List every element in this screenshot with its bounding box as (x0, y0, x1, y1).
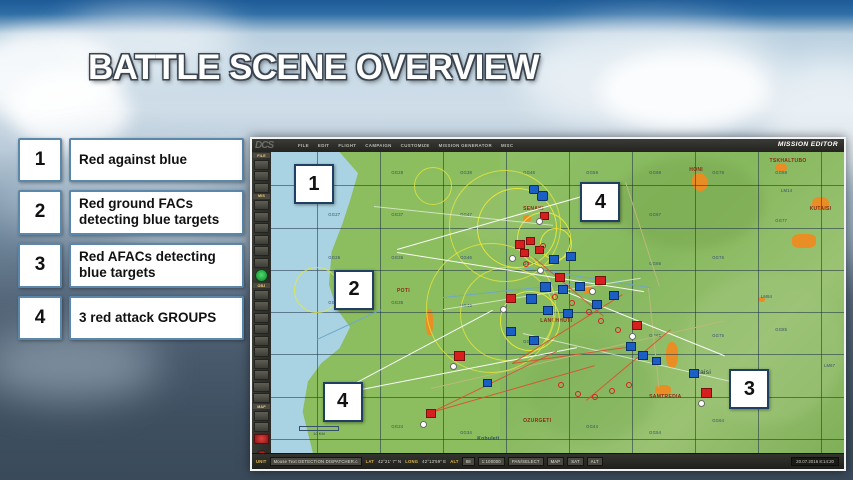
legend-label: Red AFACs detecting blue targets (69, 243, 244, 288)
legend-number: 1 (18, 138, 62, 182)
blue-unit[interactable] (558, 285, 568, 294)
target-marker[interactable] (523, 261, 529, 267)
grid-label: GG28 (391, 170, 403, 175)
status-timestamp: 20.07.2016 8:14:20 (791, 457, 839, 466)
callout-2: 2 (334, 270, 374, 310)
dcs-logo: DCS (255, 140, 289, 151)
menu-item-campaign[interactable]: CAMPAIGN (365, 143, 391, 148)
scale-bar-line (299, 426, 339, 431)
layer-button-map[interactable]: MAP (547, 457, 565, 466)
grid-label: GG67 (649, 212, 661, 217)
red-unit[interactable] (515, 240, 525, 249)
layer-button-sat[interactable]: SAT (567, 457, 583, 466)
sidebar-button-weather[interactable] (254, 212, 269, 222)
status-long-label: LONG (405, 459, 418, 464)
sidebar-button-delete[interactable] (254, 434, 269, 444)
target-marker[interactable] (575, 391, 581, 397)
map-gridline (380, 152, 381, 454)
red-unit[interactable] (701, 388, 712, 398)
blue-unit[interactable] (638, 351, 648, 360)
sidebar-button-goals[interactable] (254, 258, 269, 268)
sidebar-group-file: FILE (253, 153, 270, 158)
grid-label: GG75 (712, 333, 724, 338)
grid-label: GG68 (649, 170, 661, 175)
grid-label: GG88 (775, 170, 787, 175)
range-ring (294, 267, 340, 313)
blue-unit[interactable] (506, 327, 516, 336)
menu-item-flight[interactable]: FLIGHT (338, 143, 356, 148)
waypoint-dot[interactable] (589, 288, 596, 295)
menu-item-customize[interactable]: CUSTOMIZE (401, 143, 430, 148)
blue-unit[interactable] (592, 300, 602, 309)
legend-number: 2 (18, 190, 62, 235)
menu-item-mission-generator[interactable]: MISSION GENERATOR (439, 143, 492, 148)
sidebar-button-template[interactable] (254, 370, 269, 380)
grid-label: GG26 (328, 255, 340, 260)
blue-unit[interactable] (563, 309, 573, 318)
sidebar-group-objects: OBJ (253, 283, 270, 288)
grid-label: GG77 (775, 218, 787, 223)
blue-unit[interactable] (609, 291, 619, 300)
target-marker[interactable] (592, 394, 598, 400)
waypoint-dot[interactable] (698, 400, 705, 407)
sidebar-button-new[interactable] (254, 160, 269, 170)
red-unit[interactable] (526, 237, 535, 245)
blue-unit[interactable] (529, 185, 539, 194)
blue-unit[interactable] (529, 336, 539, 345)
red-unit[interactable] (426, 409, 436, 418)
list-item: 1 Red against blue (18, 138, 244, 182)
menu-item-misc[interactable]: MISC (501, 143, 513, 148)
menu-bar: DCS FILE EDIT FLIGHT CAMPAIGN CUSTOMIZE … (252, 139, 844, 152)
red-unit[interactable] (555, 273, 565, 282)
red-unit[interactable] (506, 294, 516, 303)
city-label: OZURGETI (523, 418, 551, 424)
grid-label: GG78 (712, 170, 724, 175)
window-label: MISSION EDITOR (778, 141, 838, 148)
sidebar-group-mission: MIS (253, 194, 270, 199)
sidebar-button-triggers[interactable] (254, 246, 269, 256)
city-label: HONI (689, 167, 703, 173)
grid-label: GG58 (586, 170, 598, 175)
grid-label: LM67 (824, 363, 835, 368)
legend-label: Red against blue (69, 138, 244, 182)
grid-label: GG27 (328, 212, 340, 217)
map-canvas[interactable]: GG28 GG38 GG48 GG58 GG68 GG78 GG88 GG27 … (271, 152, 844, 454)
map-gridline (695, 152, 696, 454)
grid-label: GG24 (391, 424, 403, 429)
target-marker[interactable] (609, 388, 615, 394)
blue-unit[interactable] (575, 282, 585, 291)
blue-unit[interactable] (543, 306, 553, 315)
red-unit[interactable] (454, 351, 465, 361)
grid-label: GG76 (712, 255, 724, 260)
map-scale-bar: 10 KM (299, 426, 339, 437)
sidebar-group-map: MAP (253, 404, 270, 409)
target-marker[interactable] (626, 382, 632, 388)
grid-label: GG64 (712, 418, 724, 423)
callout-1: 1 (294, 164, 334, 204)
page-title: BATTLE SCENE OVERVIEW (88, 48, 539, 88)
mission-editor-window: DCS FILE EDIT FLIGHT CAMPAIGN CUSTOMIZE … (250, 137, 846, 471)
grid-label: GG54 (649, 430, 661, 435)
sidebar-button-open[interactable] (254, 171, 269, 181)
target-marker[interactable] (540, 243, 546, 249)
city-label: Kobuleti (477, 436, 499, 442)
list-item: 4 3 red attack GROUPS (18, 296, 244, 340)
scale-bar-label: 10 KM (299, 431, 339, 436)
waypoint-dot[interactable] (420, 421, 427, 428)
blue-unit[interactable] (566, 252, 576, 261)
grid-label: GG37 (391, 212, 403, 217)
grid-label: GG85 (775, 327, 787, 332)
map-gridline (821, 152, 822, 454)
urban-area (792, 234, 816, 248)
grid-label: GG34 (460, 430, 472, 435)
list-item: 2 Red ground FACs detecting blue targets (18, 190, 244, 235)
grid-label: GG38 (460, 170, 472, 175)
status-unit-value: Mouse Text DETECTION DISPATCHER.c (270, 457, 362, 466)
blue-unit[interactable] (626, 342, 636, 351)
city-label: SAMTREDIA (649, 394, 681, 400)
sidebar-button-briefing[interactable] (254, 235, 269, 245)
status-mode-value[interactable]: PAN/SELECT (508, 457, 544, 466)
grid-label: LM84 (761, 294, 772, 299)
sidebar-button-cargo[interactable] (254, 359, 269, 369)
grid-label: GG35 (391, 300, 403, 305)
legend-number: 3 (18, 243, 62, 288)
blue-unit[interactable] (652, 357, 661, 365)
red-unit[interactable] (595, 276, 606, 285)
callout-4-top: 4 (580, 182, 620, 222)
target-marker[interactable] (558, 382, 564, 388)
blue-unit[interactable] (537, 191, 548, 201)
sidebar-button-aircraft[interactable] (254, 290, 269, 300)
blue-unit[interactable] (549, 255, 559, 264)
target-marker[interactable] (615, 327, 621, 333)
sidebar-button-vehicle[interactable] (254, 324, 269, 334)
status-lat-value: 42°21' 7" N (378, 459, 401, 464)
layer-button-alt[interactable]: ALT (587, 457, 603, 466)
target-marker[interactable] (552, 294, 558, 300)
city-label: KUTAISI (810, 206, 832, 212)
menu-item-file[interactable]: FILE (298, 143, 309, 148)
list-item: 3 Red AFACs detecting blue targets (18, 243, 244, 288)
status-bar: UNIT Mouse Text DETECTION DISPATCHER.c L… (252, 453, 844, 469)
blue-unit[interactable] (526, 294, 537, 304)
callout-4-bottom: 4 (323, 382, 363, 422)
sidebar-button-zoom[interactable] (254, 411, 269, 421)
sidebar-button-static[interactable] (254, 336, 269, 346)
status-alt-value: 88 (462, 457, 475, 466)
menu-item-edit[interactable]: EDIT (318, 143, 329, 148)
legend-label: 3 red attack GROUPS (69, 296, 244, 340)
sidebar-button-helicopter[interactable] (254, 301, 269, 311)
grid-label: GG44 (586, 424, 598, 429)
sidebar-button-coalition[interactable] (253, 382, 270, 392)
status-scale-value[interactable]: 1:100000 (478, 457, 505, 466)
grid-label: GG36 (391, 255, 403, 260)
blue-unit[interactable] (689, 369, 699, 378)
legend-number: 4 (18, 296, 62, 340)
grid-label: LM14 (781, 188, 792, 193)
legend-list: 1 Red against blue 2 Red ground FACs det… (18, 138, 244, 348)
sidebar-button-layers[interactable] (254, 422, 269, 432)
target-marker[interactable] (598, 318, 604, 324)
sidebar-button-structure[interactable] (254, 347, 269, 357)
blue-unit[interactable] (483, 379, 492, 387)
status-alt-label: ALT (450, 459, 458, 464)
legend-label: Red ground FACs detecting blue targets (69, 190, 244, 235)
sidebar-button-validate[interactable] (255, 269, 268, 282)
red-unit[interactable] (632, 321, 642, 330)
sidebar-button-mission-options[interactable] (254, 200, 269, 210)
sidebar-button-failures[interactable] (254, 223, 269, 233)
status-long-value: 42°13'59" E (422, 459, 446, 464)
status-lat-label: LAT (366, 459, 374, 464)
status-unit-label: UNIT (256, 459, 267, 464)
sidebar-button-airdrome[interactable] (253, 393, 270, 403)
tool-sidebar: FILE MIS OBJ MAP (252, 152, 272, 454)
city-label: TSKHALTUBO (770, 158, 807, 164)
blue-unit[interactable] (540, 282, 551, 292)
city-label: POTI (397, 288, 410, 294)
callout-3: 3 (729, 369, 769, 409)
cloud-shape (600, 50, 770, 130)
sidebar-button-save[interactable] (254, 183, 269, 193)
sidebar-button-ship[interactable] (254, 313, 269, 323)
target-marker[interactable] (569, 300, 575, 306)
map-gridline (632, 152, 633, 454)
red-unit[interactable] (520, 249, 529, 257)
